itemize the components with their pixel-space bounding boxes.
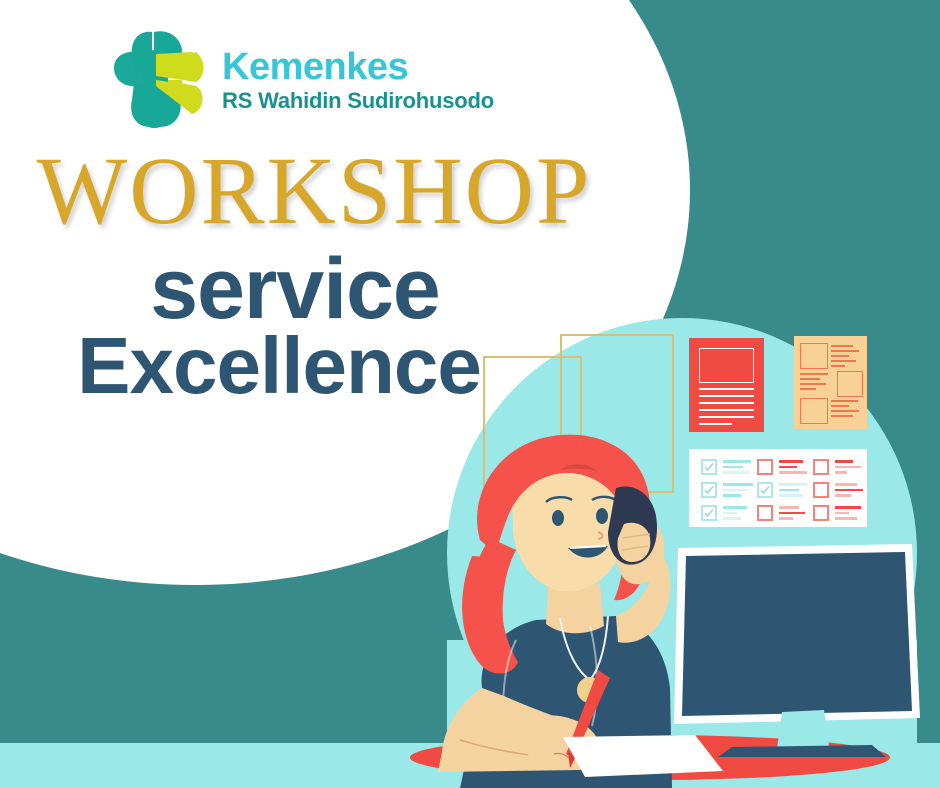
red-poster-line (699, 388, 754, 390)
checklist-lines (835, 506, 861, 520)
tan-doc-line (831, 360, 856, 362)
tan-doc-box (800, 343, 828, 369)
checkbox-empty-icon[interactable] (813, 505, 829, 521)
tan-wall-document (794, 336, 867, 429)
logo-secondary-text: RS Wahidin Sudirohusodo (222, 90, 494, 112)
checklist-item[interactable] (757, 459, 807, 475)
tan-doc-line (800, 378, 820, 380)
tan-doc-line (831, 345, 853, 347)
checklist-lines (779, 483, 807, 497)
subtitle-line-2: Excellence (44, 328, 514, 405)
red-poster-line (699, 395, 754, 397)
tan-doc-box (837, 371, 863, 397)
tan-doc-line (831, 355, 849, 357)
eye-right (596, 508, 608, 524)
checkbox-empty-icon[interactable] (813, 482, 829, 498)
checklist-item[interactable] (757, 482, 807, 498)
red-poster-line (699, 416, 754, 418)
red-poster-image-box (699, 348, 754, 383)
checklist-lines (779, 460, 807, 474)
checklist-lines (835, 483, 863, 497)
tan-doc-line (831, 410, 859, 412)
tan-doc-line (831, 415, 853, 417)
checklist-lines (723, 506, 747, 520)
checkbox-checked-icon[interactable] (757, 482, 773, 498)
logo-text-block: Kemenkes RS Wahidin Sudirohusodo (222, 48, 494, 112)
monitor-base (718, 745, 886, 757)
tan-doc-line (800, 383, 826, 385)
tan-doc-line (831, 405, 849, 407)
checklist-lines (723, 460, 751, 474)
red-poster-line (699, 409, 754, 411)
tan-doc-line (831, 350, 859, 352)
checklist-item[interactable] (813, 459, 861, 475)
checklist-lines (835, 460, 861, 474)
tan-doc-line (831, 400, 858, 402)
tan-doc-line (800, 388, 816, 390)
poster-canvas: Kemenkes RS Wahidin Sudirohusodo WORKSHO… (0, 0, 940, 788)
tan-doc-line (831, 365, 845, 367)
kemenkes-logo: Kemenkes RS Wahidin Sudirohusodo (112, 30, 494, 130)
eye-left (552, 510, 564, 526)
checkbox-empty-icon[interactable] (757, 459, 773, 475)
tan-doc-line (800, 373, 828, 375)
tan-doc-box (800, 398, 828, 424)
woman-illustration (420, 420, 720, 788)
logo-primary-text: Kemenkes (222, 48, 494, 86)
checkbox-empty-icon[interactable] (813, 459, 829, 475)
checklist-item[interactable] (813, 482, 863, 498)
kemenkes-flower-logo-icon (112, 30, 208, 130)
checkbox-empty-icon[interactable] (757, 505, 773, 521)
red-poster-line (699, 402, 754, 404)
checklist-item[interactable] (813, 505, 861, 521)
red-wall-poster (689, 338, 764, 432)
neck (546, 584, 604, 633)
subtitle-line-1: service (60, 248, 530, 331)
checklist-item[interactable] (757, 505, 805, 521)
white-paper (545, 735, 725, 785)
fingers (618, 523, 651, 562)
checklist-lines (779, 506, 805, 520)
checklist-lines (723, 483, 753, 497)
page-title: WORKSHOP (14, 143, 614, 239)
